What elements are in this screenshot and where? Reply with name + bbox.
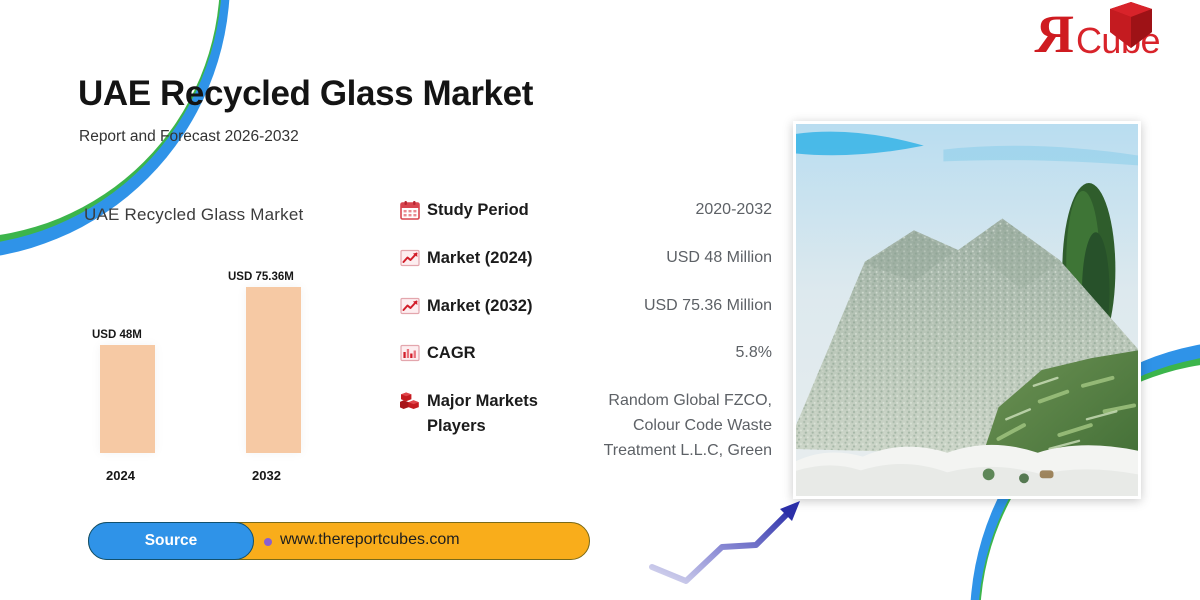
spec-label-cell: Study Period bbox=[400, 198, 575, 223]
spec-label-cell: Market (2024) bbox=[400, 246, 575, 271]
spec-label-cell: Market (2032) bbox=[400, 294, 575, 319]
bar-category-label: 2032 bbox=[252, 468, 281, 483]
reversed-r-icon: R bbox=[1035, 9, 1074, 60]
bullet-dot-icon bbox=[264, 538, 272, 546]
source-badge[interactable]: Source bbox=[88, 522, 254, 560]
spec-value: 2020-2032 bbox=[575, 198, 772, 223]
red-cube-icon bbox=[1110, 2, 1152, 48]
spec-label: Market (2024) bbox=[427, 246, 532, 271]
source-url[interactable]: www.thereportcubes.com bbox=[280, 531, 460, 549]
chart-title: UAE Recycled Glass Market bbox=[84, 205, 398, 225]
recycled-glass-photo bbox=[793, 121, 1141, 499]
growth-arrow-graphic bbox=[640, 485, 830, 590]
spec-label: Market (2032) bbox=[427, 294, 532, 319]
bar-value-label: USD 48M bbox=[92, 329, 142, 341]
spec-label-cell: Major Markets Players bbox=[400, 389, 575, 439]
spec-table: Study Period 2020-2032 Market (2024) USD… bbox=[400, 198, 772, 464]
trending-up-chart-icon bbox=[400, 296, 420, 316]
bar-category-label: 2024 bbox=[106, 468, 135, 483]
page-title: UAE Recycled Glass Market bbox=[78, 74, 533, 114]
spec-value: Random Global FZCO, Colour Code Waste Tr… bbox=[575, 389, 772, 463]
source-bar[interactable]: www.thereportcubes.com Source bbox=[88, 522, 590, 560]
bar-2032 bbox=[246, 287, 301, 453]
spec-value: USD 75.36 Million bbox=[575, 294, 772, 319]
chart-plot-area: USD 48M 2024 USD 75.36M 2032 bbox=[78, 243, 378, 493]
bar-chart-icon bbox=[400, 343, 420, 363]
bar-chart: UAE Recycled Glass Market USD 48M 2024 U… bbox=[78, 205, 398, 495]
spec-label: CAGR bbox=[427, 341, 476, 366]
table-row: CAGR 5.8% bbox=[400, 341, 772, 366]
spec-label-cell: CAGR bbox=[400, 341, 575, 366]
table-row: Study Period 2020-2032 bbox=[400, 198, 772, 223]
bar-value-label: USD 75.36M bbox=[228, 271, 294, 283]
spec-label: Major Markets Players bbox=[427, 389, 575, 439]
page-subtitle: Report and Forecast 2026-2032 bbox=[79, 128, 299, 146]
calendar-icon bbox=[400, 200, 420, 220]
spec-label: Study Period bbox=[427, 198, 529, 223]
table-row: Major Markets Players Random Global FZCO… bbox=[400, 389, 772, 463]
infographic-canvas: R Cube UAE Recycled Glass Market Report … bbox=[0, 0, 1200, 600]
bar-2024 bbox=[100, 345, 155, 453]
table-row: Market (2032) USD 75.36 Million bbox=[400, 294, 772, 319]
stacked-cubes-icon bbox=[400, 391, 420, 411]
spec-value: 5.8% bbox=[575, 341, 772, 366]
source-badge-label: Source bbox=[145, 532, 198, 550]
spec-value: USD 48 Million bbox=[575, 246, 772, 271]
table-row: Market (2024) USD 48 Million bbox=[400, 246, 772, 271]
brand-logo: R Cube bbox=[1035, 6, 1160, 60]
trending-up-chart-icon bbox=[400, 248, 420, 268]
